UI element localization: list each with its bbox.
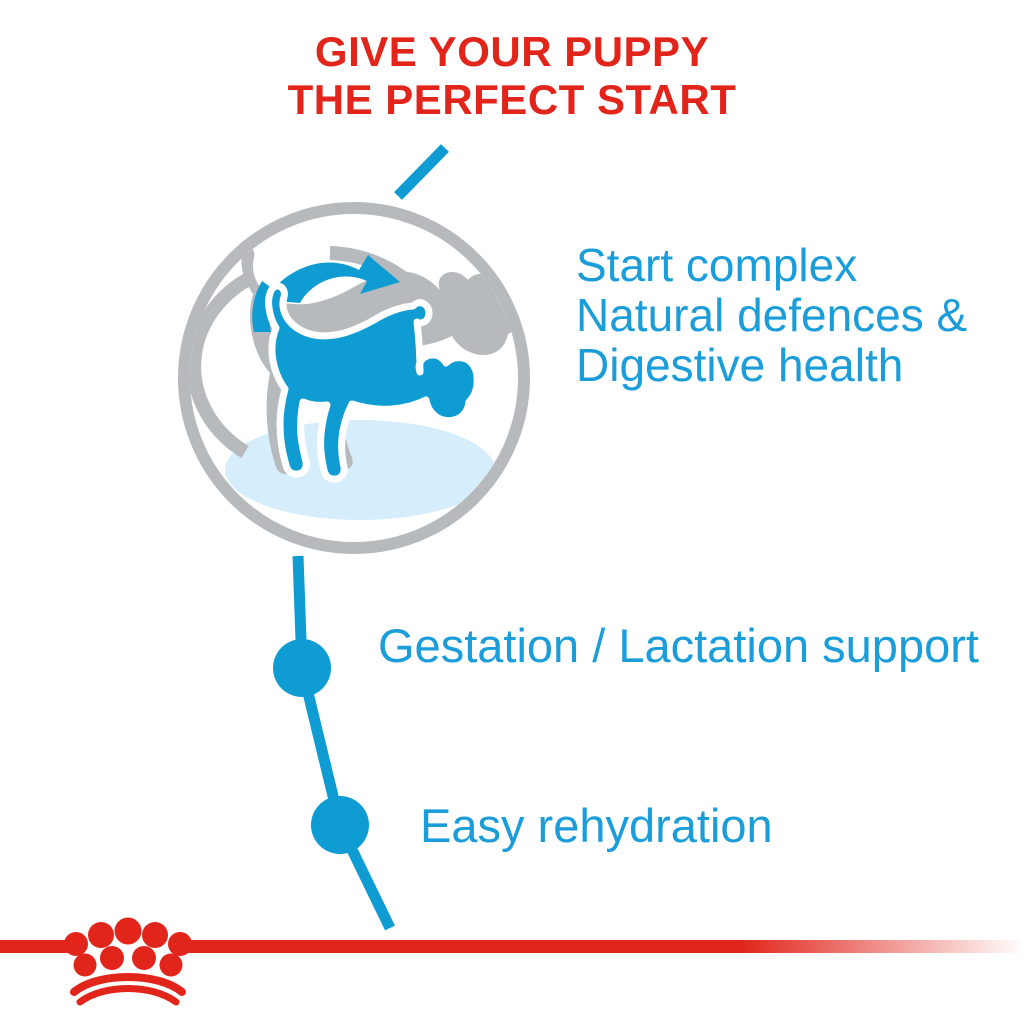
brand-rule-right <box>188 940 1024 953</box>
brand-rule-left <box>0 940 70 953</box>
connector-node-2 <box>311 796 369 854</box>
illustration-layer <box>0 0 1024 1024</box>
benefit-label-1: Gestation / Lactation support <box>378 619 979 672</box>
circle-inner-artwork <box>194 247 526 520</box>
connector-top-segment <box>398 148 445 196</box>
infographic-canvas: GIVE YOUR PUPPY THE PERFECT START <box>0 0 1024 1024</box>
benefit-label-0: Start complex Natural defences & Digesti… <box>576 239 967 391</box>
benefit-text-gestation-lactation: Gestation / Lactation support <box>378 620 1008 672</box>
royal-canin-crown-logo <box>64 918 192 1003</box>
benefit-text-start-complex: Start complex Natural defences & Digesti… <box>576 240 1006 390</box>
brand-footer <box>0 914 1024 1024</box>
connector-line <box>298 556 390 928</box>
benefit-label-2: Easy rehydration <box>420 799 773 852</box>
ground-ellipse <box>225 420 495 520</box>
benefit-text-easy-rehydration: Easy rehydration <box>420 800 1000 852</box>
connector-node-1 <box>273 639 331 697</box>
